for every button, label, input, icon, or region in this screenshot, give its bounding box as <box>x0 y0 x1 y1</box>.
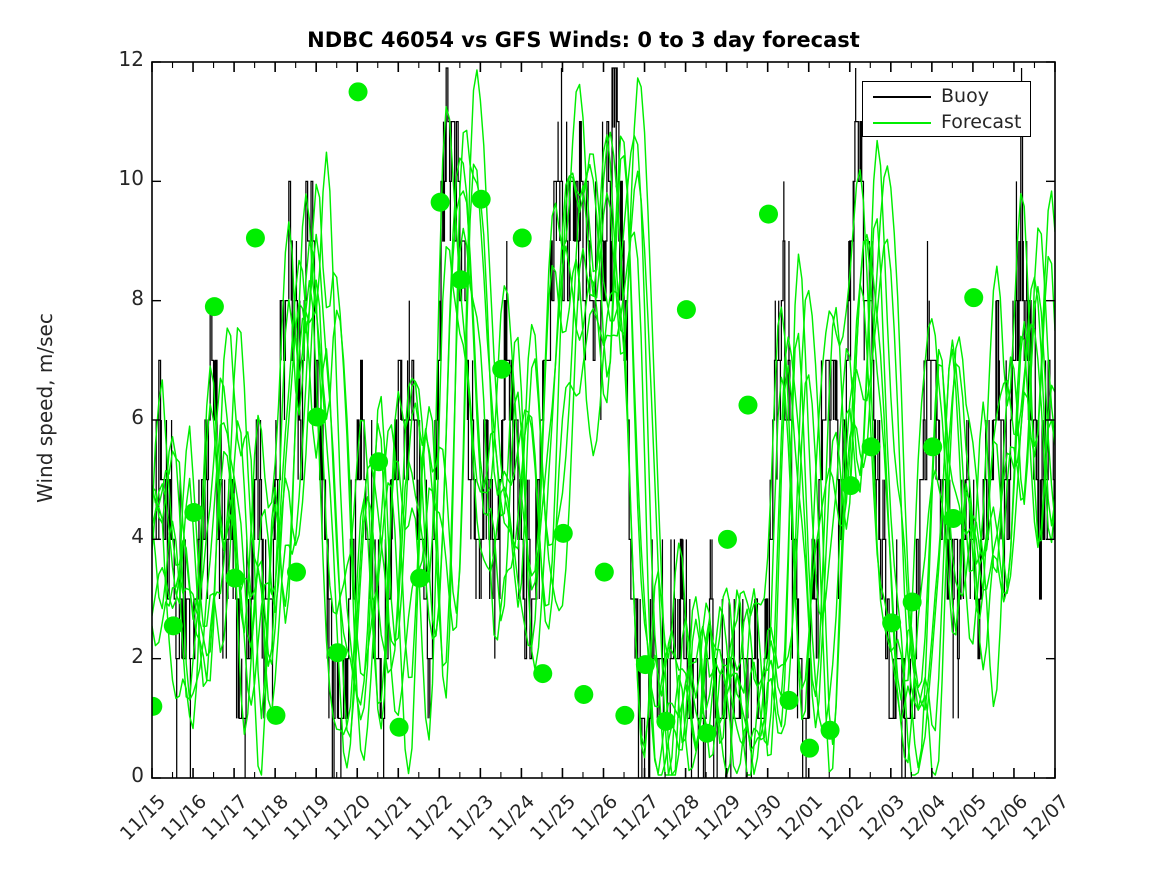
forecast-daily-marker <box>554 524 573 543</box>
forecast-daily-marker <box>451 270 470 289</box>
forecast-daily-marker <box>862 437 881 456</box>
forecast-daily-marker <box>697 724 716 743</box>
forecast-daily-marker <box>431 193 450 212</box>
forecast-daily-marker <box>349 82 368 101</box>
legend-item-forecast[interactable]: Forecast <box>863 110 1030 136</box>
forecast-daily-marker <box>266 706 285 725</box>
forecast-daily-marker <box>513 229 532 248</box>
forecast-daily-marker <box>492 360 511 379</box>
legend[interactable]: Buoy Forecast <box>862 81 1031 137</box>
forecast-daily-marker <box>677 300 696 319</box>
forecast-daily-marker <box>615 706 634 725</box>
forecast-series <box>152 70 1055 775</box>
forecast-daily-marker <box>184 503 203 522</box>
legend-label-buoy: Buoy <box>941 85 989 107</box>
forecast-daily-marker <box>369 452 388 471</box>
forecast-daily-marker <box>800 739 819 758</box>
legend-label-forecast: Forecast <box>941 111 1021 133</box>
forecast-daily-marker <box>841 476 860 495</box>
legend-swatch-forecast <box>873 122 931 124</box>
forecast-trace <box>152 84 1055 757</box>
figure-canvas: NDBC 46054 vs GFS Winds: 0 to 3 day fore… <box>0 0 1167 875</box>
forecast-daily-marker <box>410 569 429 588</box>
forecast-daily-marker <box>944 509 963 528</box>
forecast-daily-marker <box>287 563 306 582</box>
forecast-daily-marker <box>780 691 799 710</box>
forecast-daily-marker <box>595 563 614 582</box>
forecast-daily-marker <box>574 685 593 704</box>
forecast-daily-marker <box>472 190 491 209</box>
forecast-daily-marker <box>821 721 840 740</box>
forecast-daily-marker <box>738 396 757 415</box>
forecast-daily-marker <box>390 718 409 737</box>
legend-item-buoy[interactable]: Buoy <box>863 84 1030 110</box>
forecast-daily-marker <box>903 592 922 611</box>
forecast-daily-marker <box>923 437 942 456</box>
forecast-daily-marker <box>759 205 778 224</box>
forecast-daily-marker <box>308 408 327 427</box>
forecast-daily-marker <box>533 664 552 683</box>
forecast-daily-marker <box>656 712 675 731</box>
plot-frame <box>152 62 1055 778</box>
forecast-daily-marker <box>205 297 224 316</box>
axes <box>152 62 1055 778</box>
legend-swatch-buoy <box>873 96 931 98</box>
forecast-daily-marker <box>143 697 162 716</box>
forecast-daily-marker <box>964 288 983 307</box>
forecast-daily-marker <box>328 643 347 662</box>
forecast-daily-marker <box>246 229 265 248</box>
data-layer <box>143 68 1055 778</box>
forecast-daily-marker <box>636 655 655 674</box>
forecast-daily-marker <box>718 530 737 549</box>
axis-ticks <box>152 62 1055 778</box>
forecast-daily-marker <box>225 569 244 588</box>
forecast-daily-marker <box>882 613 901 632</box>
forecast-daily-marker <box>164 616 183 635</box>
